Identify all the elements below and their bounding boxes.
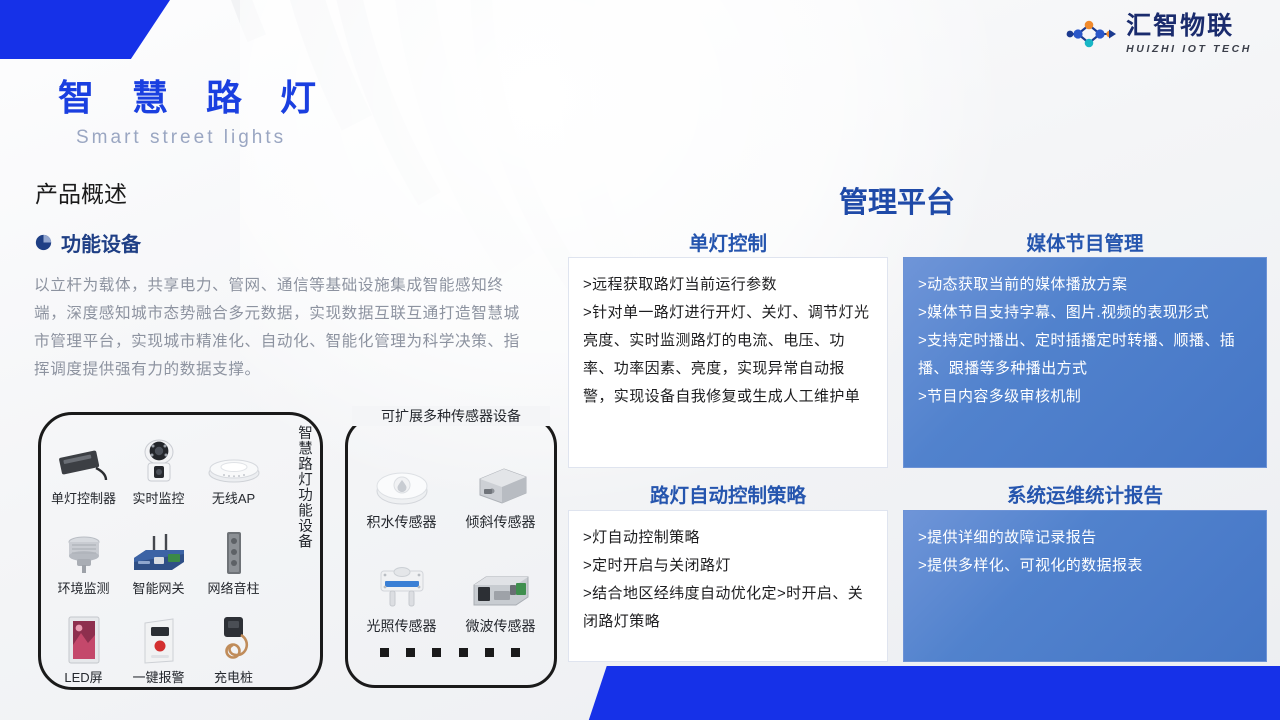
- product-overview-title: 产品概述: [35, 175, 127, 209]
- feature-devices-heading: 功能设备: [35, 228, 141, 257]
- sensor-item-water[interactable]: 积水传感器: [352, 428, 451, 532]
- panel-auto-control-strategy: >灯自动控制策略 >定时开启与关闭路灯 >结合地区经纬度自动优化定>时开启、关闭…: [568, 510, 888, 662]
- speaker-column-icon: [221, 524, 247, 576]
- product-description: 以立杆为载体，共享电力、管网、通信等基础设施集成智能感知终端，深度感知城市态势融…: [34, 272, 526, 384]
- device-label: 网络音柱: [207, 578, 259, 597]
- sensor-label: 倾斜传感器: [466, 512, 536, 532]
- molecule-network-icon: [1064, 14, 1118, 54]
- panel-heading-single-light-control: 单灯控制: [568, 227, 888, 256]
- smart-gateway-icon: [128, 524, 190, 576]
- device-item-env[interactable]: 环境监测: [46, 507, 121, 596]
- logo-chinese-name: 汇智物联: [1126, 14, 1252, 39]
- device-item-ap[interactable]: 无线AP: [196, 418, 271, 507]
- led-screen-icon: [64, 613, 104, 665]
- device-label: 环境监测: [57, 578, 109, 597]
- sensor-label: 微波传感器: [466, 616, 536, 636]
- device-item-gateway[interactable]: 智能网关: [121, 507, 196, 596]
- pie-chart-icon: [35, 234, 52, 251]
- dot: [380, 648, 389, 657]
- panel-ops-statistics-report: >提供详细的故障记录报告 >提供多样化、可视化的数据报表: [903, 510, 1267, 662]
- microwave-sensor-icon: [466, 557, 536, 613]
- sensor-item-light[interactable]: 光照传感器: [352, 532, 451, 636]
- device-item-driver[interactable]: 单灯控制器: [46, 418, 121, 507]
- dot: [432, 648, 441, 657]
- sensor-box-title: 可扩展多种传感器设备: [352, 406, 550, 426]
- sensor-label: 光照传感器: [367, 616, 437, 636]
- page-subtitle: Smart street lights: [76, 127, 286, 149]
- device-label: 无线AP: [212, 488, 255, 507]
- sensor-item-microwave[interactable]: 微波传感器: [451, 532, 550, 636]
- light-sensor-icon: [371, 557, 433, 613]
- panel-body: >远程获取路灯当前运行参数 >针对单一路灯进行开灯、关灯、调节灯光亮度、实时监测…: [583, 271, 873, 411]
- panel-heading-media-program-management: 媒体节目管理: [903, 227, 1267, 256]
- sensor-label: 积水传感器: [367, 512, 437, 532]
- device-label: 一键报警: [132, 667, 184, 686]
- device-label: 充电桩: [214, 667, 253, 686]
- ptz-camera-icon: [137, 434, 181, 486]
- device-item-led[interactable]: LED屏: [46, 597, 121, 686]
- platform-title: 管理平台: [839, 179, 955, 221]
- panel-body: >提供详细的故障记录报告 >提供多样化、可视化的数据报表: [918, 524, 1252, 580]
- device-item-alarm[interactable]: 一键报警: [121, 597, 196, 686]
- device-item-camera[interactable]: 实时监控: [121, 418, 196, 507]
- sensor-grid: 积水传感器 倾斜传感器: [352, 428, 550, 636]
- panel-heading-ops-statistics-report: 系统运维统计报告: [903, 479, 1267, 508]
- brand-logo: 汇智物联 HUIZHI IOT TECH: [1064, 14, 1252, 55]
- page-title: 智 慧 路 灯: [58, 69, 330, 121]
- water-level-sensor-icon: [370, 453, 434, 509]
- panel-body: >灯自动控制策略 >定时开启与关闭路灯 >结合地区经纬度自动优化定>时开启、关闭…: [583, 524, 873, 636]
- panel-heading-auto-control-strategy: 路灯自动控制策略: [568, 479, 888, 508]
- emergency-call-icon: [139, 613, 179, 665]
- panel-single-light-control: >远程获取路灯当前运行参数 >针对单一路灯进行开灯、关灯、调节灯光亮度、实时监测…: [568, 257, 888, 468]
- tilt-sensor-icon: [470, 453, 532, 509]
- weather-station-icon: [59, 524, 109, 576]
- device-item-charger[interactable]: 充电桩: [196, 597, 271, 686]
- device-label: 单灯控制器: [51, 488, 116, 507]
- device-item-speaker[interactable]: 网络音柱: [196, 507, 271, 596]
- sensor-item-tilt[interactable]: 倾斜传感器: [451, 428, 550, 532]
- wireless-ap-icon: [205, 434, 263, 486]
- driver-box-icon: [54, 434, 114, 486]
- feature-devices-label: 功能设备: [61, 228, 141, 257]
- panel-body: >动态获取当前的媒体播放方案 >媒体节目支持字幕、图片.视频的表现形式 >支持定…: [918, 271, 1252, 411]
- device-label: 实时监控: [132, 488, 184, 507]
- device-box-vertical-label: 智慧路灯功能设备: [287, 425, 313, 549]
- ev-charger-icon: [213, 613, 255, 665]
- logo-english-name: HUIZHI IOT TECH: [1126, 44, 1252, 55]
- slide-canvas: 汇智物联 HUIZHI IOT TECH 智 慧 路 灯 Smart stree…: [0, 0, 1280, 720]
- dot: [485, 648, 494, 657]
- device-label: LED屏: [64, 667, 102, 686]
- dot: [459, 648, 468, 657]
- device-grid: 单灯控制器 实时监控: [46, 418, 271, 686]
- device-label: 智能网关: [132, 578, 184, 597]
- dot: [406, 648, 415, 657]
- sensor-more-dots: [380, 648, 520, 657]
- dot: [511, 648, 520, 657]
- panel-media-program-management: >动态获取当前的媒体播放方案 >媒体节目支持字幕、图片.视频的表现形式 >支持定…: [903, 257, 1267, 468]
